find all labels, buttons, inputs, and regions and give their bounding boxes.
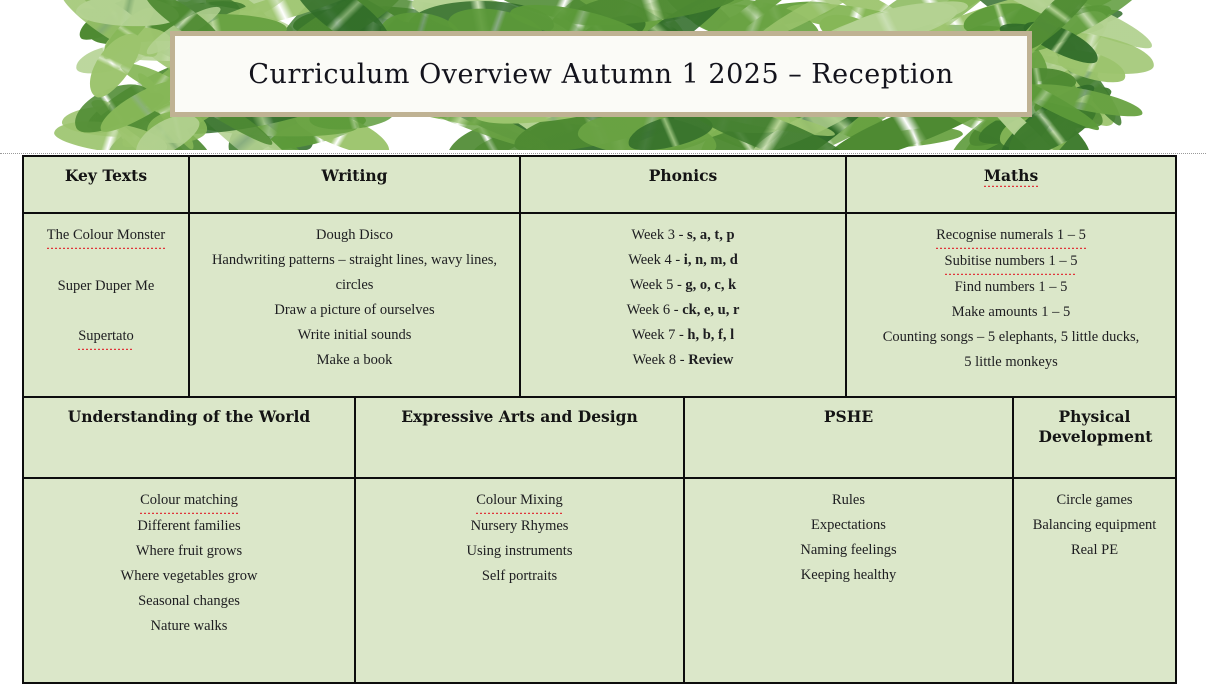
cell-writing: Dough Disco Handwriting patterns – strai… — [189, 213, 520, 415]
header-expressive-arts-and-design: Expressive Arts and Design — [355, 397, 684, 478]
cell-expressive-arts-and-design: Colour Mixing Nursery Rhymes Using instr… — [355, 478, 684, 683]
header-expressive-arts-and-design-label: Expressive Arts and Design — [401, 407, 638, 427]
page-section-divider — [0, 153, 1206, 154]
phonics-item: Week 8 - Review — [528, 348, 838, 373]
header-physical-development: Physical Development — [1013, 397, 1176, 478]
table-row-body-bottom: Colour matching Different families Where… — [23, 478, 1176, 683]
table-row-header-bottom: Understanding of the World Expressive Ar… — [23, 397, 1176, 478]
phonics-item: Week 6 - ck, e, u, r — [528, 298, 838, 323]
maths-item: Find numbers 1 – 5 — [854, 275, 1168, 300]
pshe-item: Rules — [692, 488, 1005, 513]
writing-item: Dough Disco — [197, 223, 512, 248]
phonics-week-label: Week 3 - — [631, 227, 687, 243]
header-writing-label: Writing — [322, 166, 388, 186]
ead-item: Colour Mixing — [476, 488, 563, 514]
header-phonics-label: Phonics — [649, 166, 718, 186]
cell-physical-development: Circle games Balancing equipment Real PE — [1013, 478, 1176, 683]
key-text-item: The Colour Monster — [47, 223, 165, 249]
cell-maths: Recognise numerals 1 – 5 Subitise number… — [846, 213, 1176, 415]
phonics-week-sounds: h, b, f, l — [687, 327, 734, 343]
phonics-week-label: Week 5 - — [630, 277, 686, 293]
phonics-week-label: Week 4 - — [628, 252, 684, 268]
phonics-week-sounds: ck, e, u, r — [682, 302, 739, 318]
header-maths-label: Maths — [984, 166, 1038, 187]
writing-item: Make a book — [197, 348, 512, 373]
key-text-spacer — [31, 249, 181, 274]
pshe-item: Expectations — [692, 513, 1005, 538]
maths-item: 5 little monkeys — [854, 350, 1168, 375]
uotw-item: Colour matching — [140, 488, 238, 514]
pshe-item: Keeping healthy — [692, 563, 1005, 588]
phonics-item: Week 5 - g, o, c, k — [528, 273, 838, 298]
phonics-week-sounds: g, o, c, k — [685, 277, 736, 293]
writing-item: Write initial sounds — [197, 323, 512, 348]
curriculum-table-top: Key Texts Writing Phonics Maths The Colo… — [22, 155, 1177, 416]
phonics-item: Week 7 - h, b, f, l — [528, 323, 838, 348]
pd-item: Circle games — [1021, 488, 1168, 513]
header-pshe-label: PSHE — [824, 407, 873, 427]
cell-pshe: Rules Expectations Naming feelings Keepi… — [684, 478, 1013, 683]
phonics-item: Week 4 - i, n, m, d — [528, 248, 838, 273]
maths-item: Make amounts 1 – 5 — [854, 300, 1168, 325]
cell-phonics: Week 3 - s, a, t, p Week 4 - i, n, m, d … — [520, 213, 846, 415]
header-key-texts: Key Texts — [23, 156, 189, 213]
header-banner: Curriculum Overview Autumn 1 2025 – Rece… — [0, 0, 1206, 150]
pd-item: Balancing equipment — [1021, 513, 1168, 538]
phonics-week-sounds: i, n, m, d — [684, 252, 738, 268]
writing-item: Handwriting patterns – straight lines, w… — [197, 248, 512, 273]
phonics-week-sounds: Review — [688, 352, 733, 368]
uotw-item: Where vegetables grow — [31, 564, 347, 589]
phonics-week-label: Week 6 - — [627, 302, 683, 318]
header-phonics: Phonics — [520, 156, 846, 213]
ead-item: Self portraits — [363, 564, 676, 589]
pd-item: Real PE — [1021, 538, 1168, 563]
uotw-item: Where fruit grows — [31, 539, 347, 564]
key-text-item: Supertato — [78, 324, 134, 350]
maths-item: Counting songs – 5 elephants, 5 little d… — [854, 325, 1168, 350]
curriculum-table-bottom: Understanding of the World Expressive Ar… — [22, 396, 1177, 684]
pshe-item: Naming feelings — [692, 538, 1005, 563]
key-text-spacer — [31, 299, 181, 324]
phonics-week-label: Week 7 - — [632, 327, 688, 343]
writing-item: circles — [197, 273, 512, 298]
header-physical-development-label: Physical Development — [1039, 407, 1151, 447]
ead-item: Using instruments — [363, 539, 676, 564]
cell-understanding-of-the-world: Colour matching Different families Where… — [23, 478, 355, 683]
cell-key-texts: The Colour Monster Super Duper Me Supert… — [23, 213, 189, 415]
maths-item: Recognise numerals 1 – 5 — [936, 223, 1086, 249]
phonics-week-sounds: s, a, t, p — [687, 227, 735, 243]
phonics-week-label: Week 8 - — [633, 352, 689, 368]
header-understanding-of-the-world: Understanding of the World — [23, 397, 355, 478]
header-understanding-of-the-world-label: Understanding of the World — [68, 407, 311, 427]
header-key-texts-label: Key Texts — [65, 166, 147, 186]
table-row-body-top: The Colour Monster Super Duper Me Supert… — [23, 213, 1176, 415]
ead-item: Nursery Rhymes — [363, 514, 676, 539]
header-maths: Maths — [846, 156, 1176, 213]
header-writing: Writing — [189, 156, 520, 213]
page-title: Curriculum Overview Autumn 1 2025 – Rece… — [170, 31, 1032, 117]
uotw-item: Seasonal changes — [31, 589, 347, 614]
uotw-item: Different families — [31, 514, 347, 539]
table-row-header-top: Key Texts Writing Phonics Maths — [23, 156, 1176, 213]
writing-item: Draw a picture of ourselves — [197, 298, 512, 323]
phonics-item: Week 3 - s, a, t, p — [528, 223, 838, 248]
maths-item: Subitise numbers 1 – 5 — [945, 249, 1078, 275]
uotw-item: Nature walks — [31, 614, 347, 639]
header-pshe: PSHE — [684, 397, 1013, 478]
key-text-item: Super Duper Me — [58, 278, 155, 294]
